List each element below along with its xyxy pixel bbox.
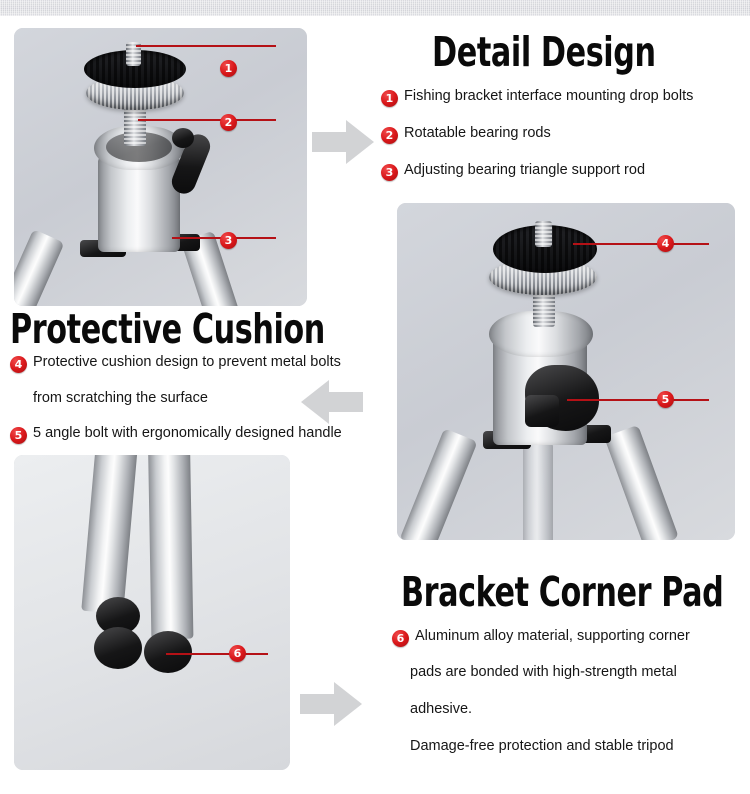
photo-tripod-ball-head	[14, 28, 307, 306]
mounting-bolt	[535, 221, 552, 247]
corner-item-6: 6 Aluminum alloy material, supporting co…	[392, 628, 690, 647]
detail-item-2-text: Rotatable bearing rods	[404, 125, 551, 142]
cushion-item-4: 4 Protective cushion design to prevent m…	[10, 354, 341, 373]
list-badge-6: 6	[392, 630, 409, 647]
list-badge-4: 4	[10, 356, 27, 373]
leader-line-6	[166, 653, 268, 655]
photo-angle-bolt-handle	[397, 203, 735, 540]
corner-item-6-cont-1: pads are bonded with high-strength metal	[410, 664, 677, 681]
tripod-leg-center	[523, 441, 553, 540]
leader-line-2	[138, 119, 276, 121]
callout-badge-2: 2	[220, 114, 237, 131]
leader-line-4	[573, 243, 709, 245]
corner-pad-left-tip	[94, 627, 142, 669]
list-badge-1: 1	[381, 90, 398, 107]
infographic-page: 1 2 3 Detail Design 1 Fishing bracket in…	[0, 0, 750, 794]
detail-item-1-text: Fishing bracket interface mounting drop …	[404, 88, 693, 105]
callout-badge-3: 3	[220, 232, 237, 249]
ball-head-body	[98, 156, 180, 252]
lever-knob	[172, 128, 194, 148]
handle-hex-nut	[525, 395, 559, 427]
photo-corner-pads	[14, 455, 290, 770]
cushion-item-4-cont: from scratching the surface	[33, 390, 208, 407]
arrow-right-icon-top	[312, 118, 374, 166]
detail-item-2: 2 Rotatable bearing rods	[381, 125, 551, 144]
callout-badge-1: 1	[220, 60, 237, 77]
top-noise-band	[0, 0, 750, 16]
corner-pad-right	[144, 631, 192, 673]
corner-item-6-cont-2: adhesive.	[410, 701, 472, 718]
list-badge-3: 3	[381, 164, 398, 181]
aluminum-tube-right	[148, 455, 193, 639]
list-badge-5: 5	[10, 427, 27, 444]
list-badge-2: 2	[381, 127, 398, 144]
callout-badge-4: 4	[657, 235, 674, 252]
detail-item-3: 3 Adjusting bearing triangle support rod	[381, 162, 645, 181]
leader-line-1	[136, 45, 276, 47]
heading-protective-cushion: Protective Cushion	[10, 305, 325, 353]
callout-badge-6: 6	[229, 645, 246, 662]
heading-detail-design: Detail Design	[432, 28, 656, 76]
cushion-item-5-text: 5 angle bolt with ergonomically designed…	[33, 425, 342, 442]
heading-bracket-corner-pad: Bracket Corner Pad	[401, 568, 723, 616]
callout-badge-5: 5	[657, 391, 674, 408]
detail-item-1: 1 Fishing bracket interface mounting dro…	[381, 88, 693, 107]
arrow-right-icon-bottom	[300, 680, 362, 728]
cushion-item-4-text: Protective cushion design to prevent met…	[33, 354, 341, 371]
detail-item-3-text: Adjusting bearing triangle support rod	[404, 162, 645, 179]
cushion-item-5: 5 5 angle bolt with ergonomically design…	[10, 425, 342, 444]
leader-line-5	[567, 399, 709, 401]
corner-item-6-cont-3: Damage-free protection and stable tripod	[410, 738, 674, 755]
corner-item-6-text: Aluminum alloy material, supporting corn…	[415, 628, 690, 645]
arrow-left-icon-middle	[301, 378, 363, 426]
